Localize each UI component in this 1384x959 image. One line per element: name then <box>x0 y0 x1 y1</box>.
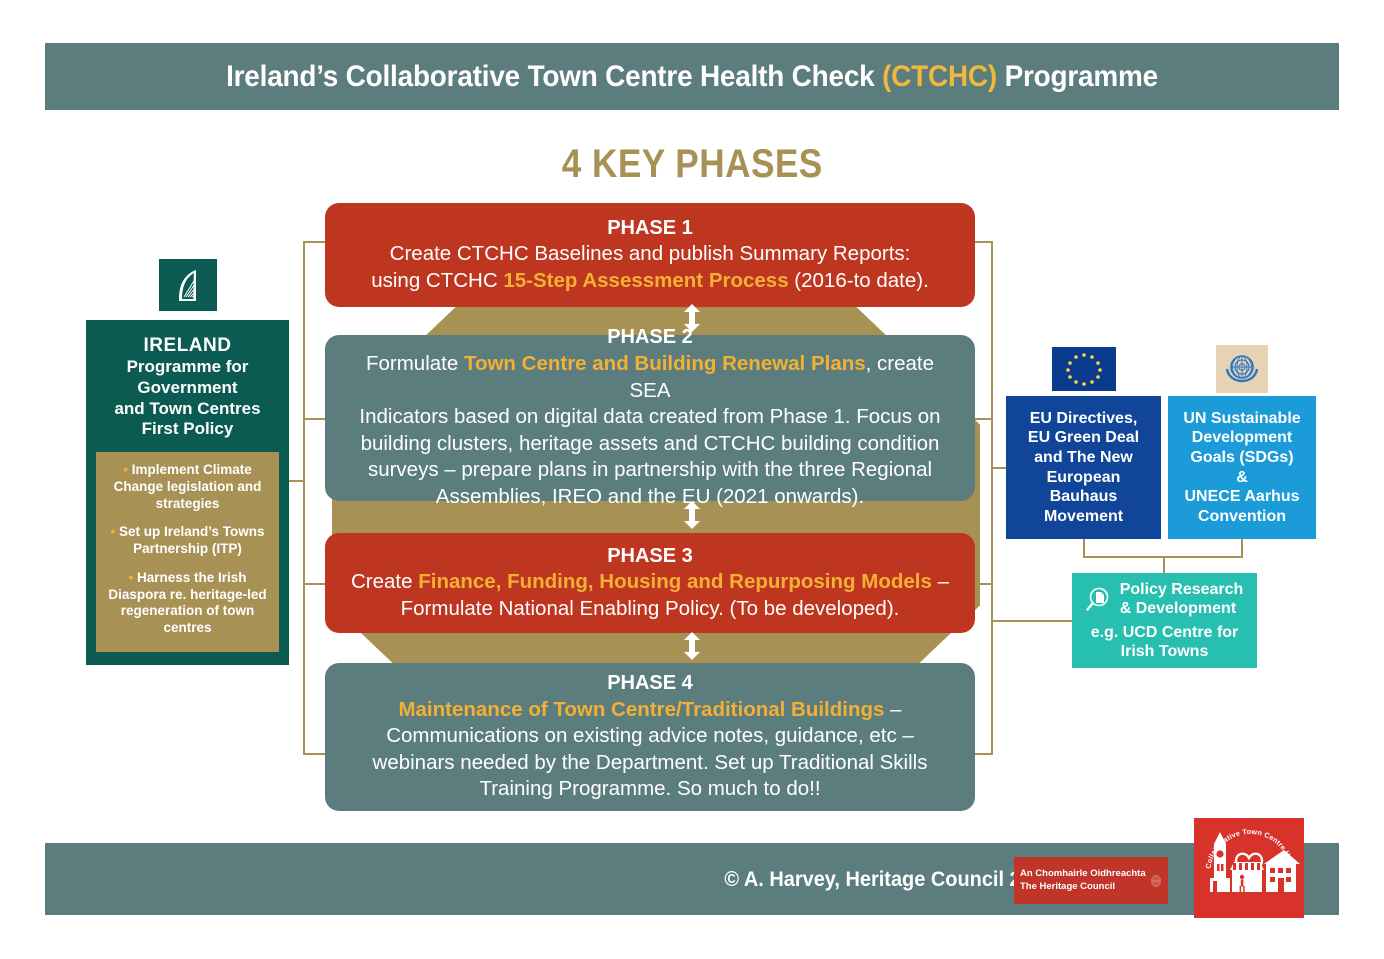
arrow-phase1-phase2 <box>681 303 703 333</box>
phase-3-line1: Create Finance, Funding, Housing and Rep… <box>347 569 953 596</box>
right-branch-to-policy <box>991 620 1075 622</box>
list-item: • Set up Ireland’s Towns Partnership (IT… <box>104 524 271 557</box>
phase-3-line1-b: – <box>932 570 949 593</box>
phase-4-line1: Maintenance of Town Centre/Traditional B… <box>347 697 953 724</box>
phase-3-box[interactable]: PHASE 3 Create Finance, Funding, Housing… <box>325 533 975 633</box>
phase-2-line3: building clusters, heritage assets and C… <box>347 431 953 458</box>
phase-1-label: PHASE 1 <box>347 216 953 242</box>
ireland-bullet-2: Set up Ireland’s Towns Partnership (ITP) <box>119 524 265 556</box>
phase-3-label: PHASE 3 <box>347 544 953 570</box>
phase-1-line2-a: using CTCHC <box>371 269 503 292</box>
un-line4: & <box>1176 468 1308 488</box>
un-line3: Goals (SDGs) <box>1176 448 1308 468</box>
phase-4-line1-b: – <box>884 698 901 721</box>
title-acronym: (CTCHC) <box>882 60 997 93</box>
un-line6: Convention <box>1176 507 1308 527</box>
phase-2-line1-a: Formulate <box>366 352 464 375</box>
un-emblem-icon <box>1222 350 1262 388</box>
phase-1-line2-b: (2016-to date). <box>789 269 929 292</box>
section-heading-text: 4 KEY PHASES <box>562 142 823 187</box>
eu-line4: European <box>1014 468 1153 488</box>
un-emblem <box>1216 345 1268 393</box>
title-part-a: Ireland’s Collaborative Town Centre Heal… <box>226 60 882 93</box>
ireland-title-line2: Programme for <box>96 357 279 378</box>
fingerprint-icon <box>1150 862 1162 900</box>
un-sdg-box[interactable]: UN Sustainable Development Goals (SDGs) … <box>1168 396 1316 539</box>
bullet-dot-icon: • <box>123 462 128 477</box>
phase-4-line1-highlight: Maintenance of Town Centre/Traditional B… <box>398 698 884 721</box>
eu-flag-icon <box>1052 347 1116 391</box>
ireland-policy-panel[interactable]: IRELAND Programme for Government and Tow… <box>86 320 289 665</box>
ctchc-programme-logo: Collaborative Town Centre Health Check P… <box>1194 818 1304 918</box>
copyright-credit: © A. Harvey, Heritage Council 2021 <box>724 868 1054 892</box>
ireland-bullet-1: Implement Climate Change legislation and… <box>114 462 262 510</box>
list-item: • Harness the Irish Diaspora re. heritag… <box>104 570 271 637</box>
policy-line2: & Development <box>1120 599 1244 618</box>
eu-directives-box[interactable]: EU Directives, EU Green Deal and The New… <box>1006 396 1161 539</box>
phase-4-box[interactable]: PHASE 4 Maintenance of Town Centre/Tradi… <box>325 663 975 811</box>
ireland-title-line1: IRELAND <box>96 334 279 357</box>
up-down-arrow-icon <box>682 632 702 660</box>
phase-2-box[interactable]: PHASE 2 Formulate Town Centre and Buildi… <box>325 335 975 501</box>
section-heading: 4 KEY PHASES <box>0 142 1384 187</box>
ireland-title-line5: First Policy <box>96 419 279 440</box>
title-part-b: Programme <box>997 60 1158 93</box>
phase-4-line2: Communications on existing advice notes,… <box>347 723 953 750</box>
un-line2: Development <box>1176 428 1308 448</box>
heritage-council-logo: An Chomhairle Oidhreachta The Heritage C… <box>1014 857 1168 904</box>
phase-2-line4: surveys – prepare plans in partnership w… <box>347 457 953 484</box>
policy-line3: e.g. UCD Centre for <box>1078 623 1251 642</box>
phase-4-line3: webinars needed by the Department. Set u… <box>347 750 953 777</box>
policy-line4: Irish Towns <box>1078 642 1251 661</box>
policy-subtitle: e.g. UCD Centre for Irish Towns <box>1078 623 1251 661</box>
phase-3-line1-a: Create <box>351 570 418 593</box>
harp-icon <box>175 268 201 302</box>
infographic-canvas: Ireland’s Collaborative Town Centre Heal… <box>0 0 1384 959</box>
policy-feed-vertical <box>1163 556 1165 574</box>
phase-1-box[interactable]: PHASE 1 Create CTCHC Baselines and publi… <box>325 203 975 307</box>
header-bar: Ireland’s Collaborative Town Centre Heal… <box>45 43 1339 110</box>
phase-2-line1: Formulate Town Centre and Building Renew… <box>347 351 953 404</box>
phase-2-line2: Indicators based on digital data created… <box>347 404 953 431</box>
arrow-phase3-phase4 <box>681 631 703 661</box>
un-line5: UNECE Aarhus <box>1176 487 1308 507</box>
bullet-dot-icon: • <box>128 570 133 585</box>
heritage-council-logo-text: An Chomhairle Oidhreachta The Heritage C… <box>1020 868 1146 894</box>
ireland-panel-title: IRELAND Programme for Government and Tow… <box>96 334 279 440</box>
eu-line3: and The New <box>1014 448 1153 468</box>
phase-3-line2: Formulate National Enabling Policy. (To … <box>347 596 953 623</box>
page-title: Ireland’s Collaborative Town Centre Heal… <box>226 60 1158 94</box>
ireland-harp-emblem <box>159 259 217 311</box>
ireland-bullet-3: Harness the Irish Diaspora re. heritage-… <box>108 570 266 635</box>
eu-line6: Movement <box>1014 507 1153 527</box>
eu-line1: EU Directives, <box>1014 409 1153 429</box>
phase-1-line2: using CTCHC 15-Step Assessment Process (… <box>347 268 953 295</box>
un-line1: UN Sustainable <box>1176 409 1308 429</box>
right-connector-spine <box>991 241 993 754</box>
eu-un-join-vertical-left <box>1083 539 1085 557</box>
policy-title: Policy Research & Development <box>1120 580 1244 618</box>
ireland-title-line4: and Town Centres <box>96 399 279 420</box>
up-down-arrow-icon <box>682 304 702 332</box>
ctchc-town-logo-icon: Collaborative Town Centre Health Check P… <box>1194 818 1304 918</box>
phase-1-line1: Create CTCHC Baselines and publish Summa… <box>347 241 953 268</box>
phase-2-label: PHASE 2 <box>347 325 953 351</box>
eu-un-join-vertical-right <box>1241 539 1243 557</box>
eu-line5: Bauhaus <box>1014 487 1153 507</box>
eu-line2: EU Green Deal <box>1014 428 1153 448</box>
phase-4-line4: Training Programme. So much to do!! <box>347 776 953 803</box>
phase-3-line1-highlight: Finance, Funding, Housing and Repurposin… <box>418 570 932 593</box>
ireland-title-line3: Government <box>96 378 279 399</box>
policy-header-row: Policy Research & Development <box>1078 580 1251 618</box>
list-item: • Implement Climate Change legislation a… <box>104 462 271 512</box>
phase-2-line1-highlight: Town Centre and Building Renewal Plans <box>464 352 866 375</box>
phase-1-line2-highlight: 15-Step Assessment Process <box>503 269 788 292</box>
policy-line1: Policy Research <box>1120 580 1244 599</box>
phase-4-label: PHASE 4 <box>347 671 953 697</box>
bullet-dot-icon: • <box>110 524 115 539</box>
policy-research-box[interactable]: Policy Research & Development e.g. UCD C… <box>1072 573 1257 668</box>
heritage-logo-line2: The Heritage Council <box>1020 881 1146 894</box>
phase-2-line5: Assemblies, IREO and the EU (2021 onward… <box>347 484 953 511</box>
arrow-phase2-phase3 <box>681 500 703 530</box>
up-down-arrow-icon <box>682 501 702 529</box>
ireland-bullet-list: • Implement Climate Change legislation a… <box>96 452 279 652</box>
magnifier-document-icon <box>1086 585 1114 613</box>
left-connector-spine <box>303 241 305 754</box>
eu-flag <box>1052 347 1116 391</box>
heritage-logo-line1: An Chomhairle Oidhreachta <box>1020 868 1146 881</box>
